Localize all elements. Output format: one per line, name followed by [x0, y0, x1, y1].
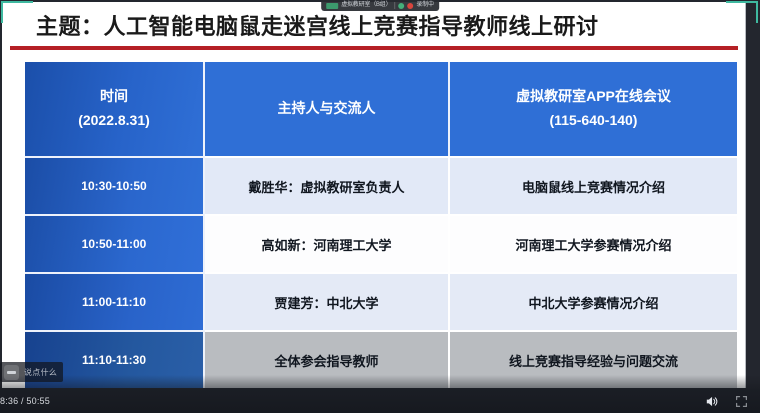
player-control-bar[interactable]: 8:36 / 50:55	[0, 389, 760, 413]
cell-time: 10:30-10:50	[25, 156, 205, 214]
header-meeting-line2: (115-640-140)	[454, 109, 733, 133]
cell-host: 贾建芳：中北大学	[205, 272, 450, 330]
table-row: 10:50-11:00 高如新：河南理工大学 河南理工大学参赛情况介绍	[25, 214, 737, 272]
page-title: 主题：人工智能电脑鼠走迷宫线上竞赛指导教师线上研讨	[36, 9, 599, 41]
cell-host: 戴胜华：虚拟教研室负责人	[205, 156, 450, 214]
video-player-stage: 主题：人工智能电脑鼠走迷宫线上竞赛指导教师线上研讨 时间 (2022.8.31)…	[0, 0, 760, 413]
table-row: 11:00-11:10 贾建芳：中北大学 中北大学参赛情况介绍	[25, 272, 737, 330]
meeting-title-label: 虚拟教研室（B组）	[341, 0, 391, 11]
recording-icon	[407, 3, 413, 9]
header-host-line1: 主持人与交流人	[209, 97, 444, 121]
header-cell-host: 主持人与交流人	[205, 62, 450, 156]
shared-screen-slide: 主题：人工智能电脑鼠走迷宫线上竞赛指导教师线上研讨 时间 (2022.8.31)…	[2, 2, 746, 388]
header-cell-meeting: 虚拟教研室APP在线会议 (115-640-140)	[450, 62, 737, 156]
fullscreen-icon[interactable]	[730, 390, 752, 412]
header-meeting-line1: 虚拟教研室APP在线会议	[454, 85, 733, 109]
comment-input-bar[interactable]: 说点什么	[0, 362, 63, 382]
cell-topic: 电脑鼠线上竞赛情况介绍	[450, 156, 737, 214]
header-time-line2: (2022.8.31)	[29, 109, 199, 133]
recording-label: 录制中	[416, 0, 433, 11]
pill-divider	[394, 2, 395, 9]
cell-time: 10:50-11:00	[25, 214, 205, 272]
screen-share-chip-icon	[326, 3, 338, 9]
danmaku-toggle-icon[interactable]	[4, 365, 19, 380]
cell-host: 全体参会指导教师	[205, 330, 450, 388]
table-row: 10:30-10:50 戴胜华：虚拟教研室负责人 电脑鼠线上竞赛情况介绍	[25, 156, 737, 214]
cell-topic: 线上竞赛指导经验与问题交流	[450, 330, 737, 388]
cell-topic: 中北大学参赛情况介绍	[450, 272, 737, 330]
header-cell-time: 时间 (2022.8.31)	[25, 62, 205, 156]
header-time-line1: 时间	[29, 85, 199, 109]
cell-host: 高如新：河南理工大学	[205, 214, 450, 272]
volume-icon[interactable]	[700, 390, 722, 412]
table-header-row: 时间 (2022.8.31) 主持人与交流人 虚拟教研室APP在线会议 (115…	[25, 62, 737, 156]
cell-topic: 河南理工大学参赛情况介绍	[450, 214, 737, 272]
comment-input[interactable]: 说点什么	[24, 367, 57, 378]
playback-time-display: 8:36 / 50:55	[0, 396, 50, 406]
title-underline-rule	[10, 46, 738, 50]
share-active-icon	[398, 3, 404, 9]
meeting-status-bar[interactable]: 虚拟教研室（B组） 录制中	[321, 0, 439, 11]
cell-time: 11:00-11:10	[25, 272, 205, 330]
table-row: 11:10-11:30 全体参会指导教师 线上竞赛指导经验与问题交流	[25, 330, 737, 388]
schedule-table: 时间 (2022.8.31) 主持人与交流人 虚拟教研室APP在线会议 (115…	[25, 62, 737, 388]
